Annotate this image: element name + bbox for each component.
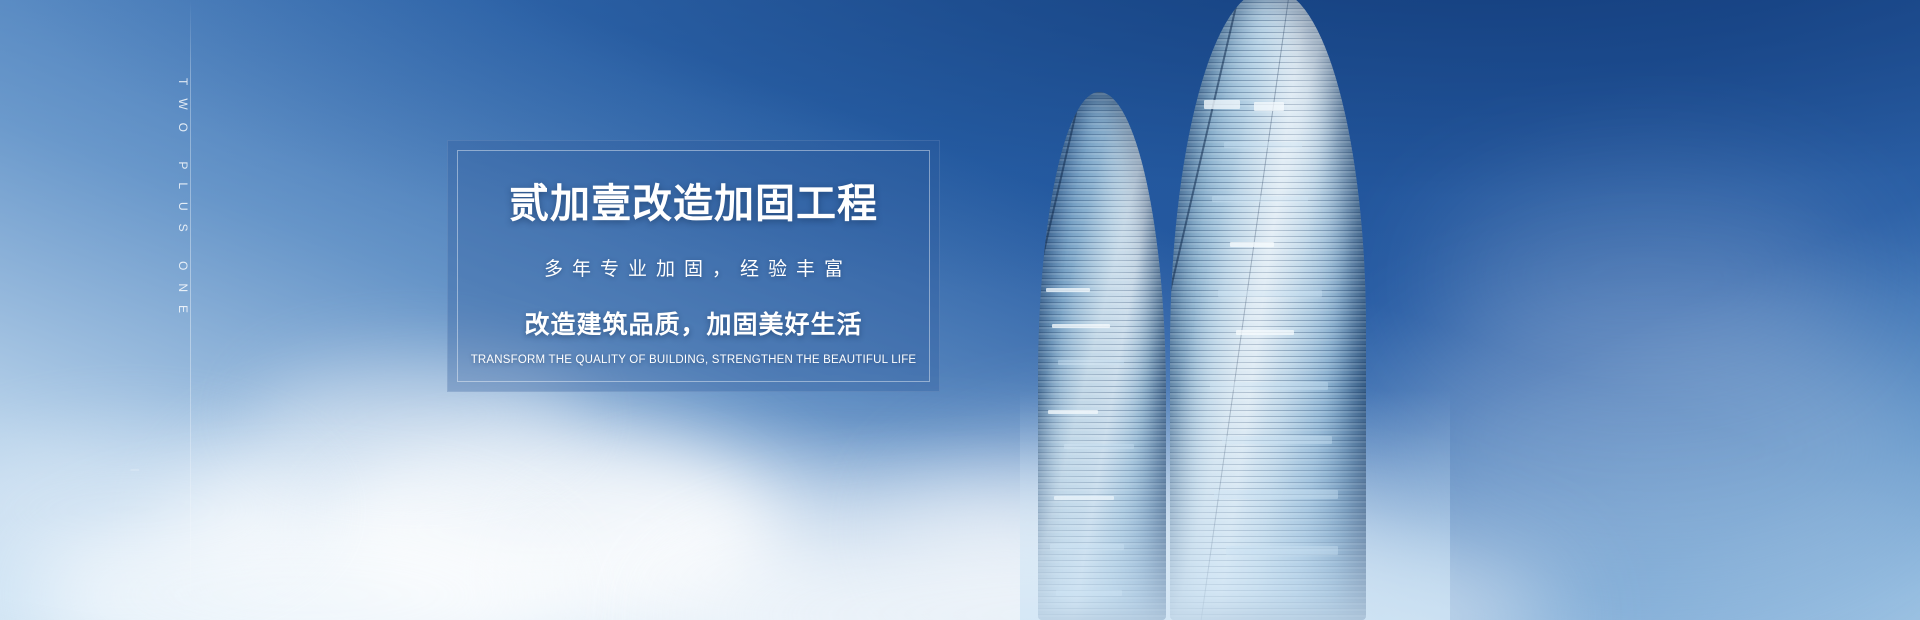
vignette-overlay [0,0,1920,620]
cloud-puff [180,400,800,620]
headline-slogan: 改造建筑品质，加固美好生活 [524,305,862,341]
skyline-towers [1020,0,1450,620]
cloud-puff [1380,300,1920,600]
vertical-brand-text: TWO PLUS ONE [176,78,190,326]
vertical-divider-line [190,0,191,620]
cloud-puff [40,500,560,620]
vertical-brand-mark: 〡 [128,465,143,477]
cloud-layer [0,0,1920,620]
cloud-puff [0,430,320,590]
hero-banner: TWO PLUS ONE 〡 贰加壹改造加固工程 多年专业加固，经验丰富 改造建… [0,0,1920,620]
headline-copy-block: 贰加壹改造加固工程 多年专业加固，经验丰富 改造建筑品质，加固美好生活 TRAN… [447,140,940,392]
cloud-puff [1430,170,1860,390]
headline-title: 贰加壹改造加固工程 [509,184,878,224]
tower-base-haze [1020,390,1450,620]
headline-subtitle: 多年专业加固，经验丰富 [535,254,852,281]
cloud-puff [330,445,760,615]
sky-gradient-dark [0,0,1920,620]
sky-gradient-light [0,0,1920,620]
headline-english: TRANSFORM THE QUALITY OF BUILDING, STREN… [471,354,917,366]
